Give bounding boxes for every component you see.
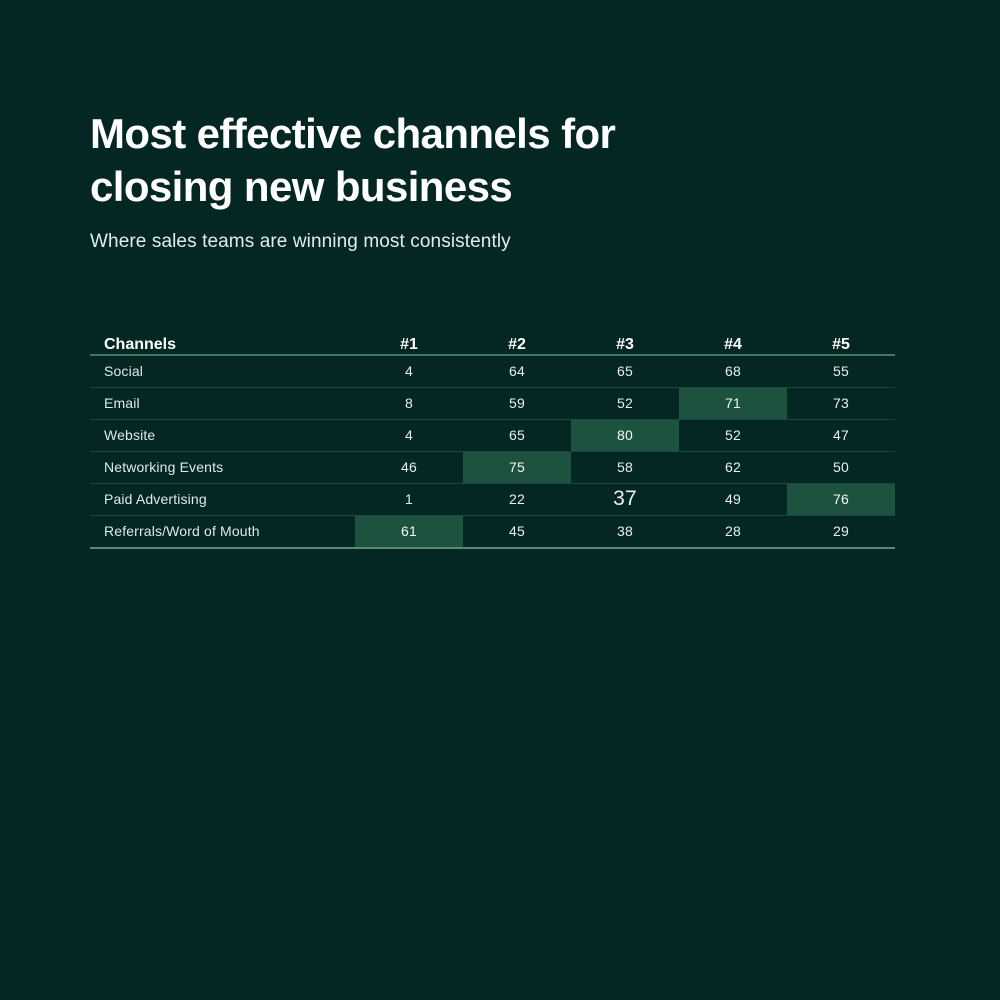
table-cell: 47 <box>787 419 895 451</box>
table-body: Social464656855Email859527173Website4658… <box>90 355 895 548</box>
column-header-rank-2: #2 <box>463 320 571 355</box>
column-header-rank-1: #1 <box>355 320 463 355</box>
table-cell: 59 <box>463 387 571 419</box>
table-cell: 22 <box>463 483 571 515</box>
row-label: Referrals/Word of Mouth <box>90 515 355 548</box>
table-header: Channels #1 #2 #3 #4 #5 <box>90 320 895 355</box>
table-row: Email859527173 <box>90 387 895 419</box>
table-cell-highlighted: 76 <box>787 483 895 515</box>
page-title: Most effective channels for closing new … <box>90 108 730 214</box>
table-cell: 62 <box>679 451 787 483</box>
channels-ranking-table: Channels #1 #2 #3 #4 #5 Social464656855E… <box>90 320 895 549</box>
table-cell: 37 <box>571 483 679 515</box>
table-cell-highlighted: 71 <box>679 387 787 419</box>
column-header-channels: Channels <box>90 320 355 355</box>
column-header-rank-4: #4 <box>679 320 787 355</box>
table-cell: 49 <box>679 483 787 515</box>
row-label: Paid Advertising <box>90 483 355 515</box>
table-row: Referrals/Word of Mouth6145382829 <box>90 515 895 548</box>
table-cell: 65 <box>463 419 571 451</box>
table-cell: 28 <box>679 515 787 548</box>
column-header-rank-5: #5 <box>787 320 895 355</box>
column-header-rank-3: #3 <box>571 320 679 355</box>
table-cell-highlighted: 80 <box>571 419 679 451</box>
table-cell: 68 <box>679 355 787 388</box>
table-cell: 73 <box>787 387 895 419</box>
table-header-row: Channels #1 #2 #3 #4 #5 <box>90 320 895 355</box>
row-label: Website <box>90 419 355 451</box>
row-label: Email <box>90 387 355 419</box>
row-label: Social <box>90 355 355 388</box>
table-cell: 52 <box>679 419 787 451</box>
table-row: Website465805247 <box>90 419 895 451</box>
channels-table-container: Channels #1 #2 #3 #4 #5 Social464656855E… <box>90 320 895 549</box>
table-cell: 4 <box>355 355 463 388</box>
table-cell: 65 <box>571 355 679 388</box>
table-row: Social464656855 <box>90 355 895 388</box>
table-row: Paid Advertising122374976 <box>90 483 895 515</box>
table-cell: 58 <box>571 451 679 483</box>
table-cell-highlighted: 61 <box>355 515 463 548</box>
table-cell: 52 <box>571 387 679 419</box>
table-cell: 55 <box>787 355 895 388</box>
table-cell-highlighted: 75 <box>463 451 571 483</box>
table-cell: 38 <box>571 515 679 548</box>
table-cell: 50 <box>787 451 895 483</box>
table-cell: 4 <box>355 419 463 451</box>
table-cell: 45 <box>463 515 571 548</box>
slide-canvas: Most effective channels for closing new … <box>0 0 1000 1000</box>
table-cell: 29 <box>787 515 895 548</box>
table-cell: 64 <box>463 355 571 388</box>
row-label: Networking Events <box>90 451 355 483</box>
table-cell: 1 <box>355 483 463 515</box>
table-row: Networking Events4675586250 <box>90 451 895 483</box>
slide-header: Most effective channels for closing new … <box>90 0 910 255</box>
table-cell: 46 <box>355 451 463 483</box>
table-cell: 8 <box>355 387 463 419</box>
page-subtitle: Where sales teams are winning most consi… <box>90 230 910 255</box>
